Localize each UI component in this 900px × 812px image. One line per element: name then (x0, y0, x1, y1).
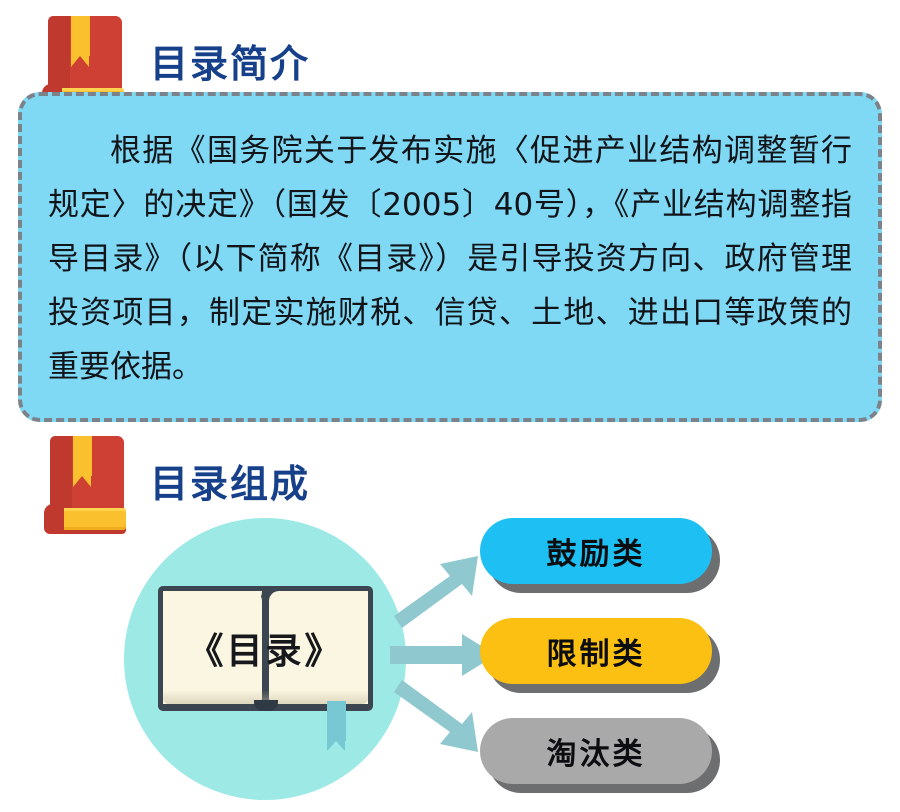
infographic-page: 目录简介 根据《国务院关于发布实施〈促进产业结构调整暂行规定〉的决定》（国发〔2… (0, 0, 900, 812)
category-pill-label: 淘汰类 (547, 729, 646, 773)
category-pill-eliminated[interactable]: 淘汰类 (480, 718, 712, 784)
section-title-intro: 目录简介 (150, 46, 310, 84)
open-book-page-curl (163, 591, 262, 607)
composition-diagram: 《目录》 鼓励类 限制类 淘汰类 (0, 500, 900, 812)
open-book-icon: 《目录》 (158, 586, 373, 711)
category-pill-encouraged[interactable]: 鼓励类 (480, 518, 712, 584)
intro-paragraph: 根据《国务院关于发布实施〈促进产业结构调整暂行规定〉的决定》（国发〔2005〕4… (48, 124, 852, 394)
arrow-down-right-icon (394, 680, 478, 752)
book-ribbon (71, 16, 90, 56)
arrow-up-right-icon (394, 556, 478, 628)
category-pill-label: 鼓励类 (547, 529, 646, 573)
intro-text-box: 根据《国务院关于发布实施〈促进产业结构调整暂行规定〉的决定》（国发〔2005〕4… (18, 92, 882, 422)
category-pill-label: 限制类 (547, 629, 646, 673)
book-ribbon (73, 436, 92, 476)
open-book-bookmark (327, 701, 346, 741)
section-title-composition: 目录组成 (150, 466, 310, 504)
category-pill-restricted[interactable]: 限制类 (480, 618, 712, 684)
center-book-label: 《目录》 (158, 622, 373, 674)
